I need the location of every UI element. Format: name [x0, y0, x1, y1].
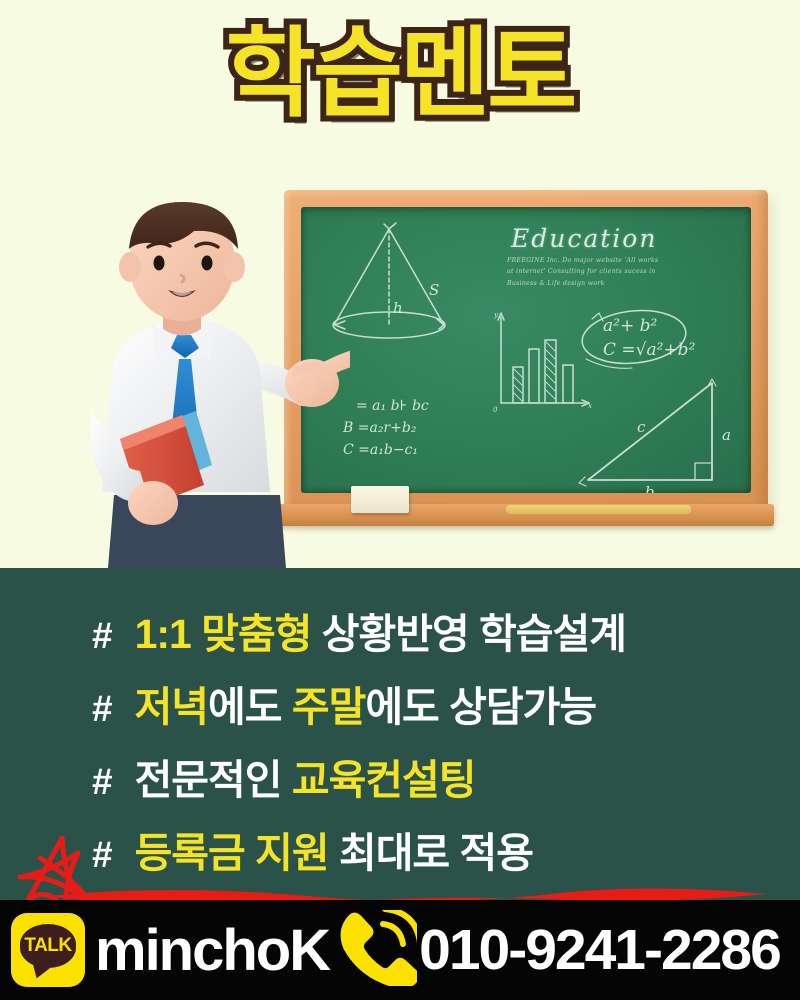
- chalkboard-subtext: FREEGINE Inc. Do major website 'All work…: [507, 255, 667, 289]
- red-marker-svg: [10, 818, 800, 913]
- formula-line1: a²+ b²: [603, 316, 657, 336]
- chart-y-axis-label: y: [493, 311, 499, 319]
- feature-2-highlight-a: 저녁: [135, 684, 208, 730]
- chalk-tray: [278, 504, 774, 526]
- phone-number: 010-9241-2286: [419, 917, 780, 983]
- cone-height-label: h: [393, 299, 403, 317]
- kakaotalk-icon[interactable]: TALK: [11, 913, 85, 987]
- contact-bar: TALK minchoK 010-9241-2286: [0, 900, 800, 1000]
- hash-icon: #: [92, 761, 113, 803]
- feature-2-highlight-b: 주말: [292, 684, 365, 730]
- chart-origin-label: 0: [493, 406, 498, 414]
- red-star-marker: [10, 818, 800, 913]
- chalkboard-heading: Education: [511, 224, 657, 253]
- eraser-icon: [351, 486, 409, 513]
- teacher-illustration-svg: [20, 195, 350, 568]
- equation-3: C =a₁b−c₁: [343, 442, 418, 458]
- phone-icon-svg: [339, 910, 417, 986]
- chalkboard-surface: h S y x 0 a²+ b² C =√a²+b² c a b = a₁ b⊦…: [301, 207, 751, 493]
- triangle-b-label: b: [645, 483, 655, 493]
- feature-2-rest: 에도 상담가능: [365, 684, 596, 730]
- feature-3-lead: 전문적인: [135, 757, 292, 803]
- phone-icon: [339, 910, 417, 991]
- page-title: 학습멘토: [226, 22, 575, 125]
- feature-item-3: # 전문적인 교육컨설팅: [92, 746, 475, 806]
- hash-icon: #: [92, 615, 113, 657]
- feature-1-highlight: 1:1 맞춤형: [135, 611, 312, 657]
- page-title-wrap: 학습멘토: [0, 22, 800, 125]
- chalk-artwork: h S y x 0 a²+ b² C =√a²+b² c a b = a₁ b⊦…: [301, 207, 751, 493]
- promo-poster: 학습멘토: [0, 0, 800, 1000]
- feature-item-1: # 1:1 맞춤형 상황반영 학습설계: [92, 600, 626, 660]
- feature-item-2: # 저녁에도 주말에도 상담가능: [92, 673, 596, 733]
- kakaotalk-bubble: TALK: [20, 924, 76, 968]
- teacher-character: [20, 195, 350, 568]
- kakaotalk-label: TALK: [20, 924, 76, 968]
- hero-section: 학습멘토: [0, 0, 800, 568]
- equation-2: B =a₂r+b₂: [342, 420, 417, 436]
- chart-x-axis-label: x: [588, 402, 592, 410]
- feature-3-highlight: 교육컨설팅: [292, 757, 476, 803]
- feature-1-rest: 상황반영 학습설계: [311, 611, 626, 657]
- hash-icon: #: [92, 688, 113, 730]
- chalk-stick-icon: [506, 505, 691, 514]
- triangle-a-label: a: [722, 426, 731, 444]
- formula-line2: C =√a²+b²: [603, 340, 696, 360]
- feature-2-mid-a: 에도: [208, 684, 292, 730]
- chalkboard: h S y x 0 a²+ b² C =√a²+b² c a b = a₁ b⊦…: [284, 190, 768, 520]
- triangle-hyp-label: c: [637, 418, 646, 436]
- kakao-id: minchoK: [95, 917, 329, 984]
- equation-1: = a₁ b⊦ bc: [356, 398, 429, 414]
- cone-slant-label: S: [429, 281, 439, 299]
